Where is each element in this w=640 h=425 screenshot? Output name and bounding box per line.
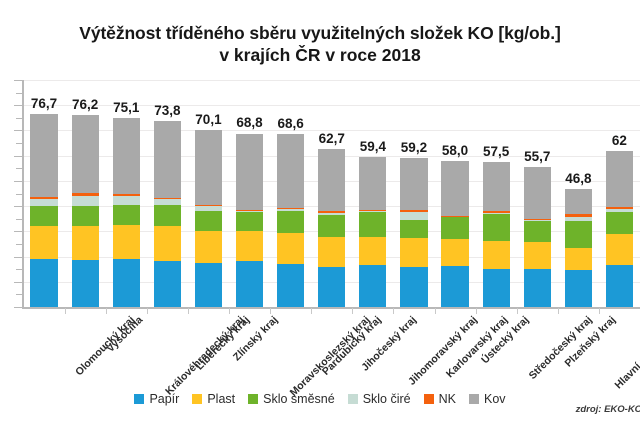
legend-label: Papír bbox=[149, 392, 179, 406]
bar-segment[interactable] bbox=[113, 196, 140, 205]
bar-segment[interactable] bbox=[483, 162, 510, 211]
legend-item[interactable]: NK bbox=[424, 392, 456, 406]
bar-segment[interactable] bbox=[359, 212, 386, 237]
bar-column[interactable]: 73,8 bbox=[154, 121, 181, 307]
legend-swatch-2 bbox=[192, 394, 202, 404]
bar-segment[interactable] bbox=[195, 231, 222, 263]
bar-segment[interactable] bbox=[236, 231, 263, 262]
bar-segment[interactable] bbox=[113, 205, 140, 225]
bar-column[interactable]: 59,2 bbox=[400, 158, 427, 307]
bar-segment[interactable] bbox=[277, 233, 304, 265]
bar-segment[interactable] bbox=[30, 206, 57, 226]
bar-value-label: 55,7 bbox=[524, 149, 550, 164]
bar-column[interactable]: 68,8 bbox=[236, 133, 263, 307]
plot-area: 76,776,275,173,870,168,868,662,759,459,2… bbox=[0, 80, 640, 308]
bar-segment[interactable] bbox=[606, 151, 633, 208]
bar-segment[interactable] bbox=[524, 242, 551, 269]
bar-stack bbox=[195, 130, 222, 307]
legend-label: Plast bbox=[207, 392, 235, 406]
bar-segment[interactable] bbox=[524, 221, 551, 242]
bar-segment[interactable] bbox=[277, 264, 304, 307]
bar-stack bbox=[277, 134, 304, 307]
bar-segment[interactable] bbox=[318, 215, 345, 237]
legend-item[interactable]: Plast bbox=[192, 392, 235, 406]
bar-column[interactable]: 58,0 bbox=[441, 161, 468, 307]
bar-segment[interactable] bbox=[441, 266, 468, 307]
bar-value-label: 62,7 bbox=[319, 131, 345, 146]
bar-segment[interactable] bbox=[483, 241, 510, 269]
bar-segment[interactable] bbox=[400, 238, 427, 267]
bar-value-label: 59,2 bbox=[401, 140, 427, 155]
bar-value-label: 59,4 bbox=[360, 139, 386, 154]
bar-value-label: 70,1 bbox=[195, 112, 221, 127]
chart-title-line-1: Výtěžnost tříděného sběru využitelných s… bbox=[0, 22, 640, 44]
bar-column[interactable]: 57,5 bbox=[483, 162, 510, 307]
bar-segment[interactable] bbox=[113, 259, 140, 307]
bar-value-label: 76,7 bbox=[31, 96, 57, 111]
bar-value-label: 75,1 bbox=[113, 100, 139, 115]
bar-segment[interactable] bbox=[524, 269, 551, 307]
legend-swatch-1 bbox=[134, 394, 144, 404]
bar-column[interactable]: 75,1 bbox=[113, 118, 140, 307]
bar-stack bbox=[483, 162, 510, 307]
chart-legend: PapírPlastSklo smĕsnéSklo čiréNKKov bbox=[0, 392, 640, 406]
legend-swatch-4 bbox=[348, 394, 358, 404]
bar-segment[interactable] bbox=[195, 263, 222, 307]
bar-stack bbox=[72, 115, 99, 307]
bar-column[interactable]: 46,8 bbox=[565, 189, 592, 307]
bar-segment[interactable] bbox=[400, 158, 427, 211]
bar-segment[interactable] bbox=[236, 261, 263, 307]
chart-title: Výtěžnost tříděného sběru využitelných s… bbox=[0, 22, 640, 66]
bar-segment[interactable] bbox=[400, 220, 427, 238]
bar-segment[interactable] bbox=[565, 189, 592, 214]
bar-segment[interactable] bbox=[277, 211, 304, 232]
bar-segment[interactable] bbox=[565, 270, 592, 307]
bar-segment[interactable] bbox=[318, 237, 345, 266]
legend-swatch-5 bbox=[424, 394, 434, 404]
legend-swatch-6 bbox=[469, 394, 479, 404]
bar-column[interactable]: 70,1 bbox=[195, 130, 222, 307]
legend-label: Sklo smĕsné bbox=[263, 392, 335, 406]
bar-segment[interactable] bbox=[236, 134, 263, 210]
bar-segment[interactable] bbox=[359, 157, 386, 209]
bar-stack bbox=[441, 161, 468, 307]
source-note: zdroj: EKO-KOM bbox=[576, 404, 640, 415]
bar-segment[interactable] bbox=[318, 267, 345, 307]
bar-value-label: 62 bbox=[612, 133, 627, 148]
chart-title-line-2: v krajích ČR v roce 2018 bbox=[0, 44, 640, 66]
bar-value-label: 76,2 bbox=[72, 97, 98, 112]
legend-swatch-3 bbox=[248, 394, 258, 404]
bar-segment[interactable] bbox=[113, 118, 140, 194]
bar-stack bbox=[236, 133, 263, 307]
bar-segment[interactable] bbox=[72, 260, 99, 307]
bar-column[interactable]: 76,7 bbox=[30, 114, 57, 307]
bar-stack bbox=[400, 158, 427, 307]
bar-segment[interactable] bbox=[441, 161, 468, 216]
bar-segment[interactable] bbox=[277, 134, 304, 208]
bar-segment[interactable] bbox=[195, 130, 222, 205]
bar-stack bbox=[524, 167, 551, 307]
x-axis-label: Moravskoslezský kraj bbox=[287, 314, 372, 399]
bar-segment[interactable] bbox=[154, 261, 181, 307]
bar-column[interactable]: 62 bbox=[606, 151, 633, 307]
bar-segment[interactable] bbox=[483, 214, 510, 241]
bar-segment[interactable] bbox=[400, 267, 427, 307]
legend-label: NK bbox=[439, 392, 456, 406]
bar-stack bbox=[30, 114, 57, 307]
legend-item[interactable]: Papír bbox=[134, 392, 179, 406]
bar-stack bbox=[154, 121, 181, 307]
bar-stack bbox=[113, 118, 140, 307]
bar-stack bbox=[606, 151, 633, 307]
bar-segment[interactable] bbox=[72, 226, 99, 260]
bar-segment[interactable] bbox=[318, 149, 345, 211]
bar-value-label: 68,6 bbox=[278, 116, 304, 131]
bar-segment[interactable] bbox=[72, 115, 99, 193]
bar-segment[interactable] bbox=[30, 259, 57, 307]
bar-segment[interactable] bbox=[441, 239, 468, 266]
bar-column[interactable]: 76,2 bbox=[72, 115, 99, 307]
bar-segment[interactable] bbox=[30, 114, 57, 197]
bar-stack bbox=[565, 189, 592, 307]
bar-segment[interactable] bbox=[606, 212, 633, 234]
bar-column[interactable]: 62,7 bbox=[318, 149, 345, 307]
bar-segment[interactable] bbox=[565, 248, 592, 271]
bar-segment[interactable] bbox=[606, 265, 633, 307]
bar-segment[interactable] bbox=[524, 167, 551, 219]
bar-stack bbox=[359, 157, 386, 307]
bar-segment[interactable] bbox=[30, 226, 57, 259]
bar-segment[interactable] bbox=[441, 217, 468, 239]
chart-container: Výtěžnost tříděného sběru využitelných s… bbox=[0, 0, 640, 425]
legend-item[interactable]: Sklo smĕsné bbox=[248, 392, 335, 406]
legend-item[interactable]: Kov bbox=[469, 392, 506, 406]
bar-segment[interactable] bbox=[72, 206, 99, 226]
legend-label: Sklo čiré bbox=[363, 392, 411, 406]
bar-segment[interactable] bbox=[565, 221, 592, 248]
bar-column[interactable]: 68,6 bbox=[277, 134, 304, 307]
legend-label: Kov bbox=[484, 392, 506, 406]
bar-column[interactable]: 59,4 bbox=[359, 157, 386, 307]
bar-segment[interactable] bbox=[483, 269, 510, 307]
bar-segment[interactable] bbox=[154, 205, 181, 226]
x-axis-label: Pardubický kraj bbox=[320, 314, 384, 378]
bar-segment[interactable] bbox=[30, 199, 57, 206]
bar-segment[interactable] bbox=[154, 121, 181, 198]
bar-segment[interactable] bbox=[154, 226, 181, 261]
bar-segment[interactable] bbox=[72, 196, 99, 206]
bar-segment[interactable] bbox=[359, 265, 386, 307]
legend-item[interactable]: Sklo čiré bbox=[348, 392, 411, 406]
bar-stack bbox=[318, 149, 345, 307]
bar-segment[interactable] bbox=[359, 237, 386, 265]
x-axis-labels: Olomoucký krajVysočinaKrálovéhradecký kr… bbox=[0, 314, 640, 388]
bar-value-label: 57,5 bbox=[483, 144, 509, 159]
bar-value-label: 58,0 bbox=[442, 143, 468, 158]
bar-value-label: 68,8 bbox=[236, 115, 262, 130]
bar-segment[interactable] bbox=[606, 234, 633, 265]
x-axis-label: Hlavní město Praha bbox=[613, 314, 640, 391]
bar-column[interactable]: 55,7 bbox=[524, 167, 551, 307]
bar-series-area: 76,776,275,173,870,168,868,662,759,459,2… bbox=[0, 80, 640, 308]
bar-value-label: 73,8 bbox=[154, 103, 180, 118]
bar-segment[interactable] bbox=[113, 225, 140, 260]
bar-segment[interactable] bbox=[195, 211, 222, 230]
bar-segment[interactable] bbox=[236, 212, 263, 231]
bar-value-label: 46,8 bbox=[565, 171, 591, 186]
bar-segment[interactable] bbox=[400, 212, 427, 220]
